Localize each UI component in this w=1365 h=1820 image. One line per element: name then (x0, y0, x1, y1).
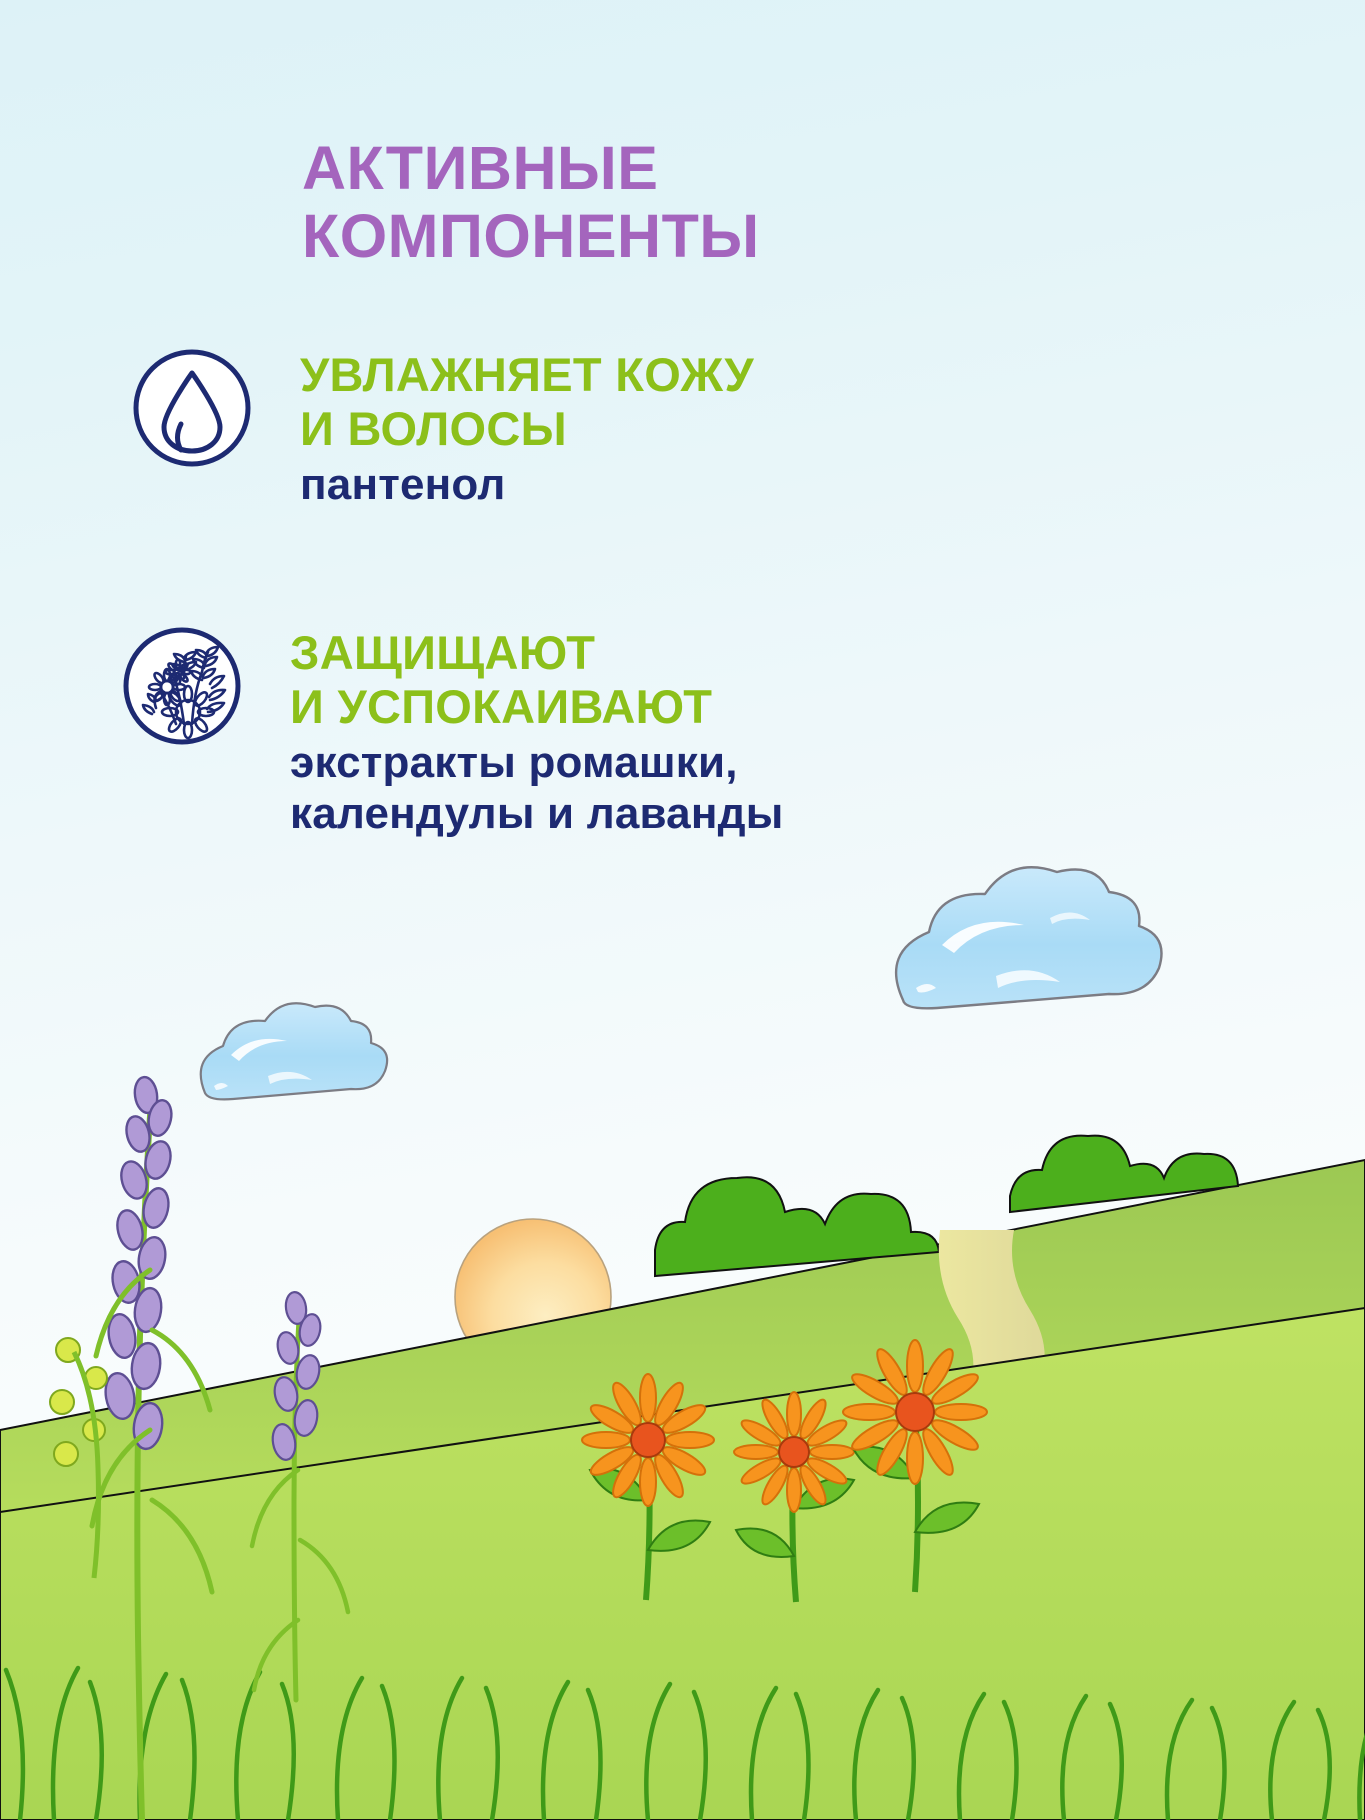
feature-text-block: УВЛАЖНЯЕТ КОЖУ И ВОЛОСЫ пантенол (300, 348, 1080, 510)
landscape-scene (0, 0, 1365, 1820)
feature-heading: УВЛАЖНЯЕТ КОЖУ И ВОЛОСЫ (300, 348, 1080, 455)
feature-subtext: экстракты ромашки, календулы и лаванды (290, 737, 1070, 839)
cloud-small-icon (201, 1003, 387, 1099)
flower-bouquet-icon (122, 626, 242, 746)
poster-canvas: АКТИВНЫЕ КОМПОНЕНТЫ УВЛАЖНЯЕТ КОЖУ И ВОЛ… (0, 0, 1365, 1820)
feature-heading: ЗАЩИЩАЮТ И УСПОКАИВАЮТ (290, 626, 1070, 733)
cloud-large-icon (896, 867, 1161, 1008)
water-drop-icon (132, 348, 252, 468)
feature-subtext: пантенол (300, 459, 1080, 510)
feature-text-block: ЗАЩИЩАЮТ И УСПОКАИВАЮТ экстракты ромашки… (290, 626, 1070, 839)
page-title: АКТИВНЫЕ КОМПОНЕНТЫ (302, 134, 1022, 271)
